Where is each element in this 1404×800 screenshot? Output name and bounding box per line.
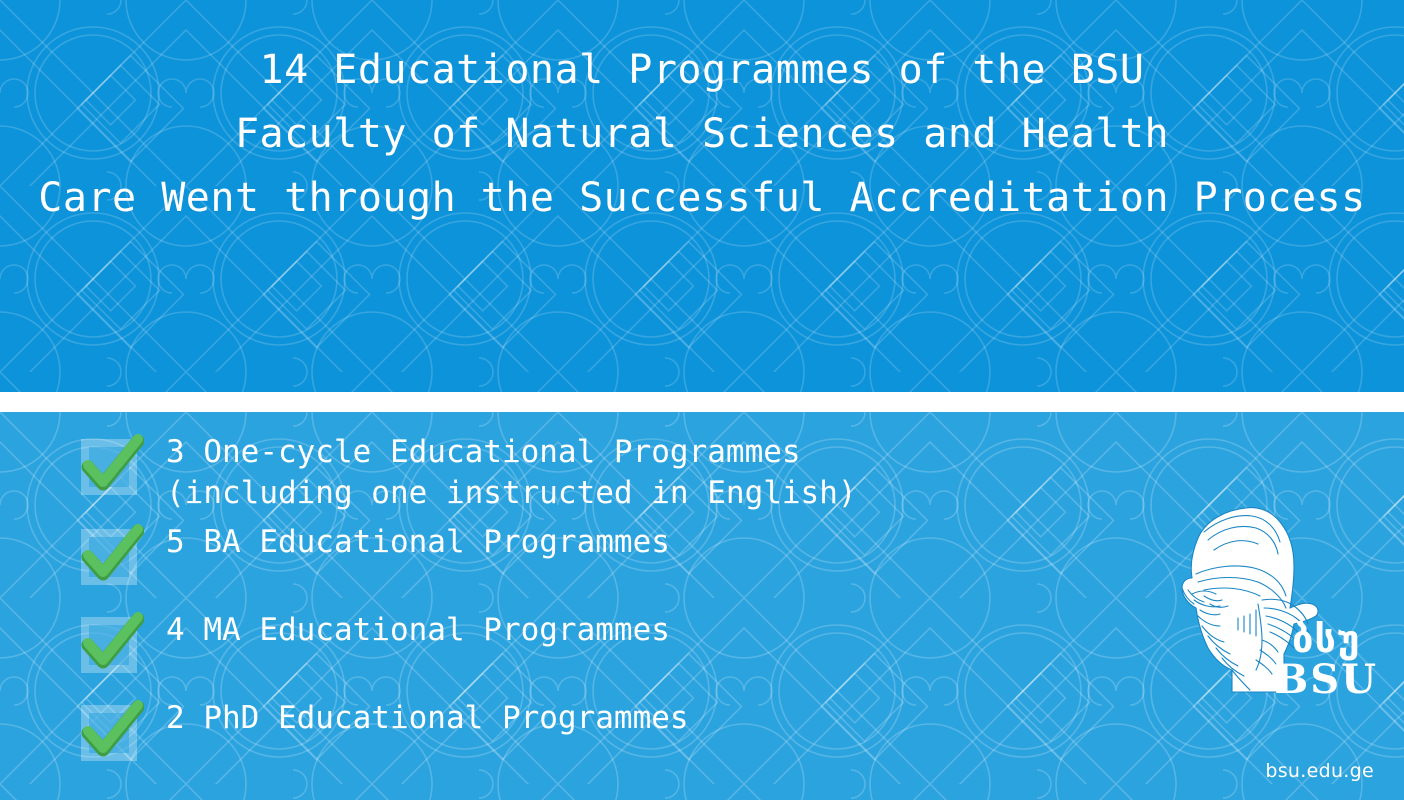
page-title: 14 Educational Programmes of the BSU Fac…	[0, 38, 1404, 230]
list-item: 5 BA Educational Programmes	[78, 518, 978, 602]
logo-latin-text: BSU	[1274, 660, 1378, 700]
list-item: 4 MA Educational Programmes	[78, 606, 978, 690]
content-band: 3 One-cycle Educational Programmes (incl…	[0, 412, 1404, 800]
list-item-sublabel: (including one instructed in English)	[166, 473, 978, 514]
list-item-label: 4 MA Educational Programmes	[166, 606, 978, 651]
section-divider	[0, 392, 1404, 412]
list-item-label: 3 One-cycle Educational Programmes	[166, 428, 978, 473]
list-item-label: 5 BA Educational Programmes	[166, 518, 978, 563]
headline-line-2: Faculty of Natural Sciences and Health	[0, 102, 1404, 166]
logo-georgian-text: ბსუ	[1274, 620, 1378, 658]
list-item-label: 2 PhD Educational Programmes	[166, 694, 978, 739]
green-check-box-icon	[78, 612, 144, 678]
headline-line-1: 14 Educational Programmes of the BSU	[0, 38, 1404, 102]
slide-canvas: 14 Educational Programmes of the BSU Fac…	[0, 0, 1404, 800]
bsu-logo: ბსუ BSU	[1174, 504, 1380, 704]
list-item: 3 One-cycle Educational Programmes (incl…	[78, 428, 978, 514]
header-band: 14 Educational Programmes of the BSU Fac…	[0, 0, 1404, 392]
list-item: 2 PhD Educational Programmes	[78, 694, 978, 778]
headline-line-3: Care Went through the Successful Accredi…	[0, 166, 1404, 230]
green-check-box-icon	[78, 700, 144, 766]
logo-wordmark: ბსუ BSU	[1274, 620, 1378, 700]
programme-list: 3 One-cycle Educational Programmes (incl…	[78, 428, 978, 778]
site-url[interactable]: bsu.edu.ge	[1265, 760, 1374, 782]
green-check-box-icon	[78, 524, 144, 590]
green-check-box-icon	[78, 434, 144, 500]
